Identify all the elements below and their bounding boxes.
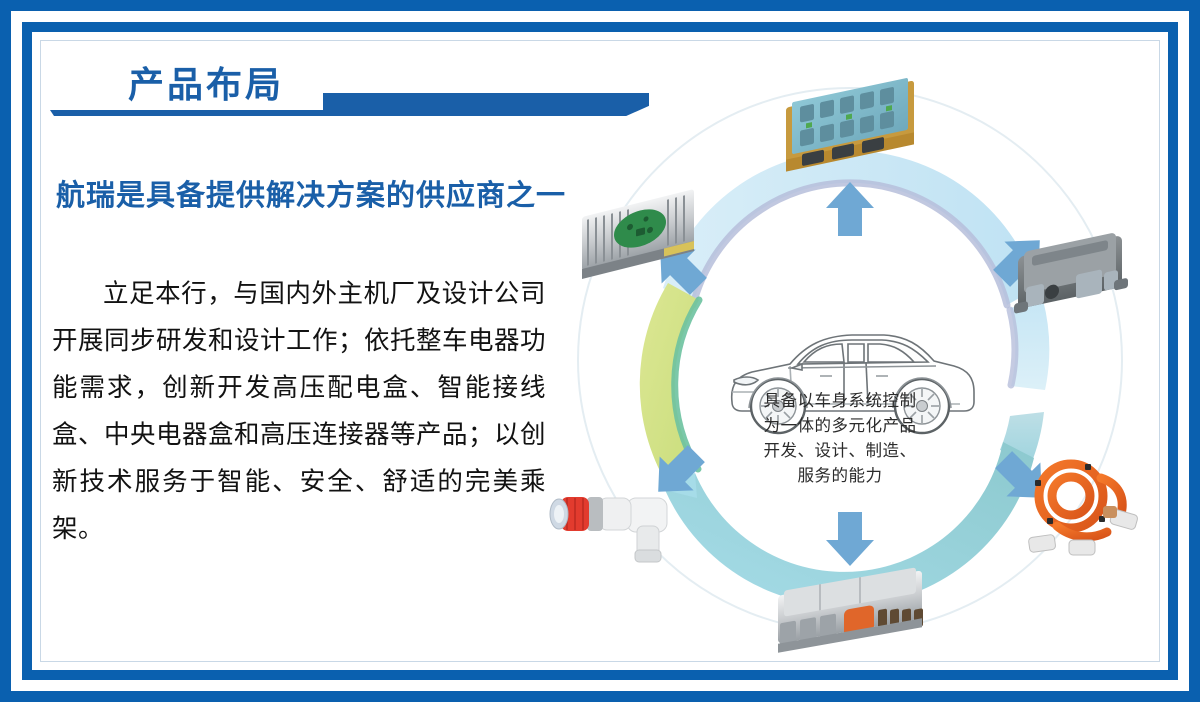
arrow-up-icon [826,182,874,236]
arc-right-upper [1010,300,1049,390]
center-caption-line-2: 为一体的多元化产品 [735,413,945,438]
lead-statement: 航瑞是具备提供解决方案的供应商之一 [56,172,566,214]
center-caption: 具备以车身系统控制 为一体的多元化产品 开发、设计、制造、 服务的能力 [735,388,945,488]
center-caption-line-4: 服务的能力 [735,463,945,488]
center-caption-line-3: 开发、设计、制造、 [735,438,945,463]
title-block: 产品布局 [50,58,610,120]
body-paragraph: 立足本行，与国内外主机厂及设计公司开展同步研发和设计工作；依托整车电器功能需求，… [52,270,546,552]
slide-canvas: 产品布局 航瑞是具备提供解决方案的供应商之一 立足本行，与国内外主机厂及设计公司… [0,0,1200,702]
page-title: 产品布局 [128,56,284,108]
arrow-down-icon [826,512,874,566]
node-orange-hv-cable-harness [1028,464,1138,555]
title-accent-bar [323,93,649,116]
node-red-white-hv-connector [550,497,667,562]
product-layout-cycle-diagram [545,60,1155,660]
center-caption-line-1: 具备以车身系统控制 [735,388,945,413]
title-underline-rule [50,110,335,116]
